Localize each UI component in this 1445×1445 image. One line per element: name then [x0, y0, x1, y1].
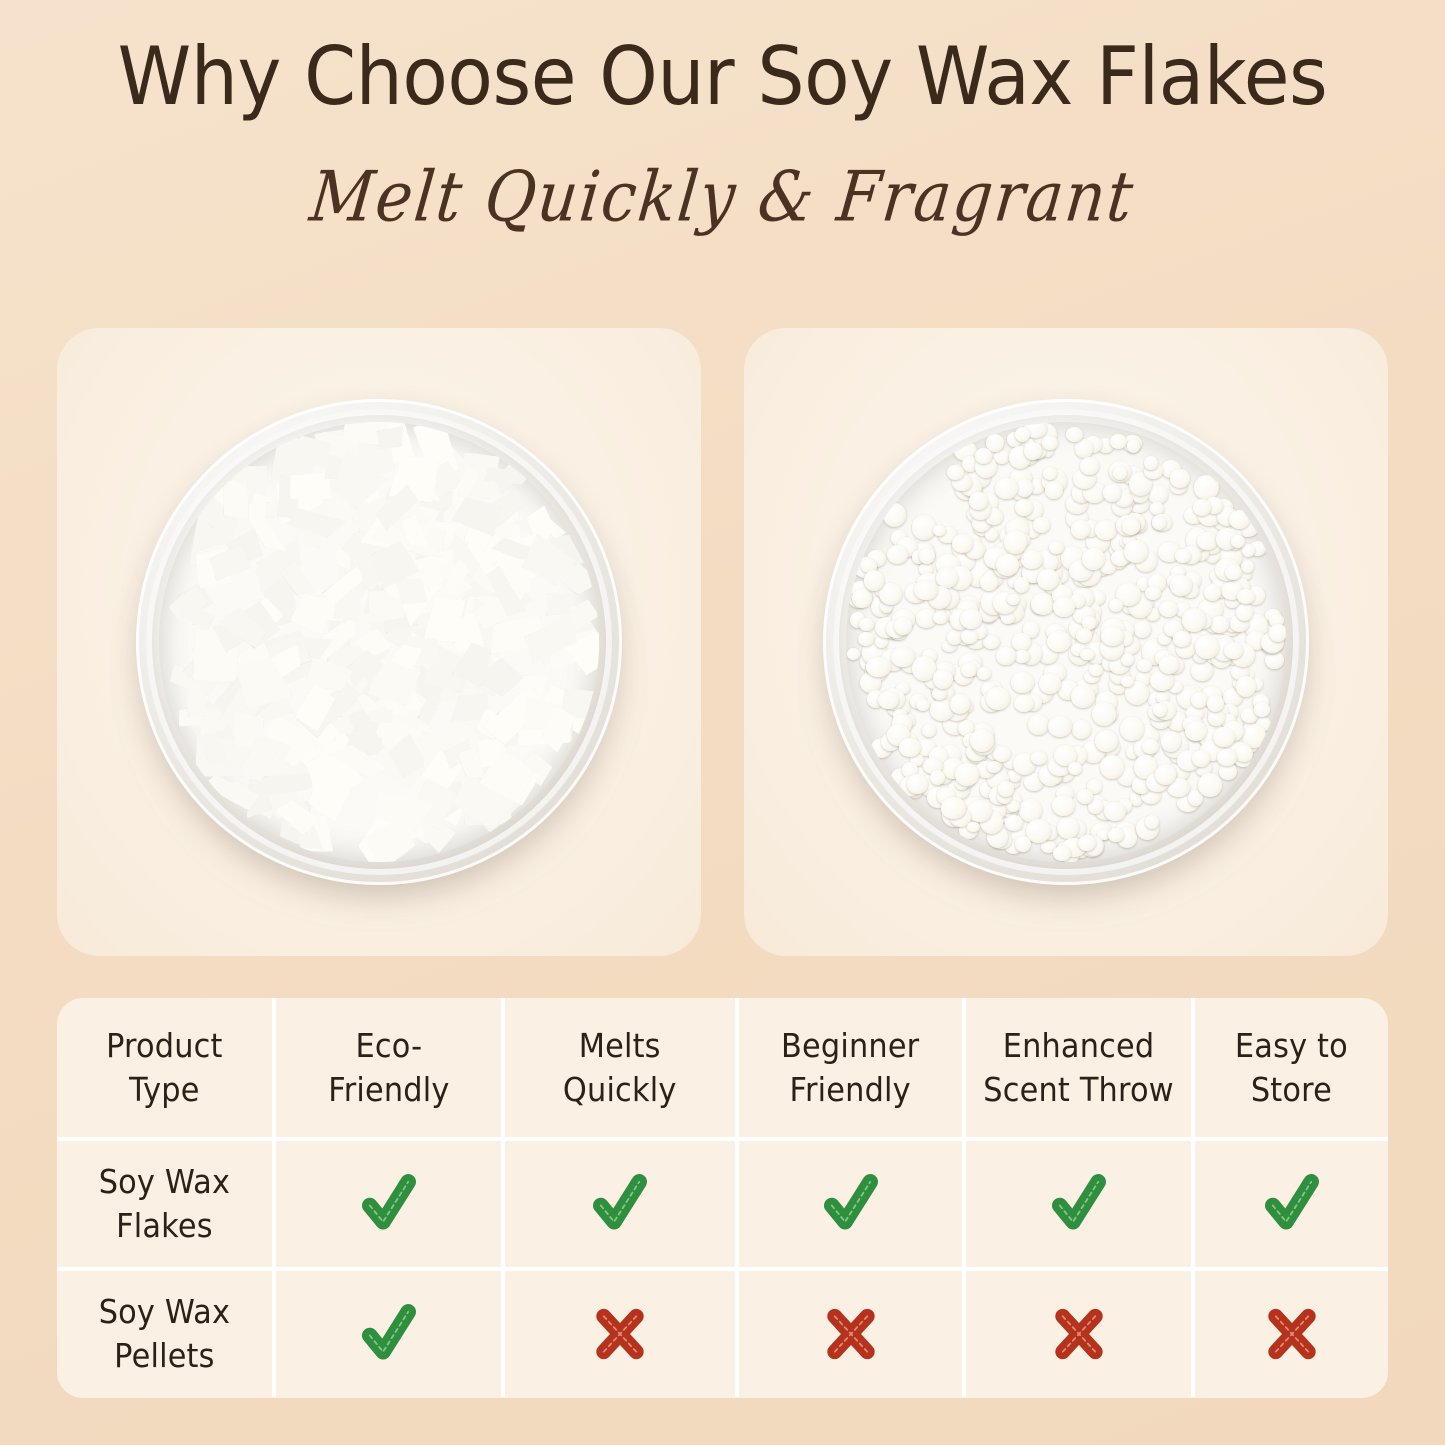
header-line-2: Friendly — [790, 1070, 911, 1109]
header-line-2: Store — [1251, 1070, 1332, 1109]
wax-pellet — [1104, 802, 1126, 821]
wax-pellet — [1052, 795, 1075, 816]
check-icon — [1255, 1167, 1329, 1241]
wax-pellet — [1015, 836, 1031, 852]
wax-pellet — [1047, 631, 1071, 652]
table-row: Soy Wax Pellets — [57, 1267, 1388, 1397]
header-line-2: Type — [129, 1070, 199, 1109]
wax-pellet — [1037, 569, 1059, 590]
wax-pellet — [933, 525, 946, 537]
header-cell-beginner-friendly: Beginner Friendly — [735, 998, 962, 1137]
check-icon — [814, 1167, 888, 1241]
wax-pellet — [1175, 549, 1191, 563]
row-label-text: Soy Wax Pellets — [99, 1290, 230, 1377]
row-label-line-2: Flakes — [116, 1206, 213, 1245]
wax-pellet — [1021, 550, 1043, 570]
wax-pellet — [1016, 479, 1033, 496]
header-cell-product-type: Product Type — [57, 998, 272, 1137]
wax-pellet — [933, 611, 948, 625]
cell-pellets-melts-quickly — [501, 1271, 735, 1397]
wax-pellet — [1192, 750, 1210, 767]
wax-pellet — [1095, 520, 1117, 540]
wax-pellet — [1089, 664, 1103, 676]
mark-slot — [814, 1297, 888, 1371]
cross-icon — [1042, 1297, 1116, 1371]
wax-pellet — [986, 687, 1010, 709]
cell-pellets-easy-to-store — [1191, 1271, 1388, 1397]
wax-pellet — [1124, 540, 1148, 563]
wax-pellet — [1191, 661, 1213, 681]
table-header-row: Product Type Eco- Friendly Melts Quickly… — [57, 998, 1388, 1137]
wax-pellet — [1121, 653, 1134, 666]
wax-pellet — [1014, 577, 1030, 593]
wax-pellet — [1053, 597, 1075, 617]
wax-pellet — [960, 609, 981, 629]
mark-slot — [583, 1297, 657, 1371]
wax-pellet — [1236, 604, 1253, 621]
wax-pellet — [1066, 427, 1083, 442]
header-text: Product Type — [106, 1024, 223, 1111]
wax-pellet — [947, 630, 962, 645]
mark-slot — [1042, 1167, 1116, 1241]
wax-pellet — [1071, 520, 1090, 539]
wax-pellet — [970, 729, 994, 752]
wax-pellet — [987, 761, 1001, 773]
header-line-2: Friendly — [328, 1070, 449, 1109]
mark-slot — [1255, 1167, 1329, 1241]
wax-pellet — [947, 465, 963, 480]
wax-pellet — [1204, 584, 1221, 600]
wax-pellet — [1236, 676, 1256, 697]
header-text: Melts Quickly — [563, 1024, 677, 1111]
header-line-1: Eco- — [355, 1026, 422, 1065]
header-line-1: Melts — [579, 1026, 661, 1065]
wax-pellet — [1191, 692, 1208, 708]
wax-pellet — [933, 669, 953, 689]
cell-pellets-beginner-friendly — [735, 1271, 962, 1397]
header-cell-melts-quickly: Melts Quickly — [501, 998, 735, 1137]
page-subtitle: Melt Quickly & Fragrant — [0, 156, 1445, 238]
wax-pellet — [1229, 510, 1250, 529]
wax-pellet — [1170, 469, 1190, 489]
wax-pellet — [1122, 518, 1140, 535]
wax-pellet — [1080, 457, 1098, 475]
wax-pellet — [864, 570, 884, 591]
flakes-bowl — [119, 382, 639, 902]
wax-pellet — [879, 583, 901, 605]
wax-pellet — [1057, 817, 1079, 839]
wax-pellet — [961, 629, 978, 644]
wax-pellet — [887, 545, 908, 564]
row-label-text: Soy Wax Flakes — [99, 1160, 230, 1247]
wax-pellet — [1045, 481, 1063, 499]
header-line-1: Beginner — [781, 1026, 919, 1065]
wax-pellet — [1049, 541, 1064, 554]
wax-pellet — [996, 647, 1016, 666]
wax-pellet — [1120, 717, 1144, 741]
wax-pellet — [1197, 532, 1218, 550]
product-photo-panels — [57, 328, 1388, 956]
wax-pellet — [1144, 456, 1158, 470]
check-icon — [352, 1297, 426, 1371]
pellets-bowl — [806, 382, 1326, 902]
wax-pellet — [1225, 565, 1242, 581]
wax-pellet — [1113, 466, 1127, 480]
wax-pellet — [1092, 702, 1117, 726]
mark-slot — [352, 1167, 426, 1241]
wax-pellet — [1103, 484, 1121, 502]
page-title: Why Choose Our Soy Wax Flakes — [51, 36, 1395, 118]
check-icon — [352, 1167, 426, 1241]
wax-pellet — [961, 663, 977, 678]
wax-pellet — [1068, 762, 1082, 775]
wax-pellet — [1028, 714, 1050, 736]
wax-pellet — [1031, 751, 1047, 765]
wax-pellet — [1109, 599, 1123, 612]
wax-pellet — [852, 589, 872, 608]
wax-pellet — [1080, 649, 1094, 661]
wax-pellet — [1137, 659, 1152, 672]
wax-pellet — [932, 687, 946, 700]
wax-pellet — [1155, 764, 1176, 785]
cell-pellets-eco-friendly — [272, 1271, 501, 1397]
wax-pellet — [894, 617, 912, 635]
wax-pellet — [1241, 560, 1254, 572]
wax-pellet — [1007, 594, 1020, 606]
wax-pellet — [936, 567, 958, 588]
header-text: Easy to Store — [1235, 1024, 1348, 1111]
wax-pellets-fill — [846, 422, 1286, 862]
wax-pellet — [1011, 672, 1034, 694]
wax-pellet — [866, 657, 890, 677]
wax-pellet — [1231, 535, 1245, 548]
wax-pellet — [1134, 621, 1151, 638]
wax-pellet — [858, 632, 874, 646]
wax-pellet — [907, 774, 928, 794]
infographic-page: Why Choose Our Soy Wax Flakes Melt Quick… — [0, 0, 1445, 1445]
mark-slot — [1255, 1297, 1329, 1371]
header-text: Eco- Friendly — [328, 1024, 449, 1111]
wax-pellet — [1242, 544, 1255, 557]
cross-icon — [1255, 1297, 1329, 1371]
wax-pellet — [878, 691, 899, 709]
table-row: Soy Wax Flakes — [57, 1137, 1388, 1267]
wax-pellet — [941, 797, 966, 819]
header-cell-enhanced-scent-throw: Enhanced Scent Throw — [962, 998, 1191, 1137]
header-line-1: Easy to — [1235, 1026, 1348, 1065]
wax-pellet — [859, 618, 874, 631]
wax-pellet — [1254, 702, 1270, 717]
cell-pellets-enhanced-scent-throw — [962, 1271, 1191, 1397]
header-line-2: Scent Throw — [983, 1070, 1173, 1109]
row-label-line-1: Soy Wax — [99, 1292, 230, 1331]
wax-pellet — [922, 724, 936, 737]
mark-slot — [352, 1297, 426, 1371]
cell-flakes-melts-quickly — [501, 1141, 735, 1267]
wax-pellet — [914, 580, 937, 600]
wax-pellet — [983, 635, 1001, 650]
wax-pellet — [1142, 739, 1159, 754]
cell-flakes-easy-to-store — [1191, 1141, 1388, 1267]
cell-flakes-enhanced-scent-throw — [962, 1141, 1191, 1267]
wax-pellet — [975, 448, 992, 464]
mark-slot — [814, 1167, 888, 1241]
wax-pellet — [847, 648, 861, 660]
wax-pellet — [1101, 626, 1124, 646]
wax-pellet — [1173, 631, 1191, 646]
wax-pellet — [1004, 530, 1027, 554]
header-text: Beginner Friendly — [781, 1024, 919, 1111]
header-cell-easy-to-store: Easy to Store — [1191, 998, 1388, 1137]
mark-slot — [583, 1167, 657, 1241]
comparison-table: Product Type Eco- Friendly Melts Quickly… — [57, 998, 1388, 1398]
wax-pellet — [1012, 633, 1030, 651]
mark-slot — [1042, 1297, 1116, 1371]
cell-flakes-beginner-friendly — [735, 1141, 962, 1267]
wax-pellet — [1195, 635, 1219, 659]
wax-pellet — [998, 781, 1015, 797]
wax-pellet — [967, 822, 980, 833]
wax-pellet — [1015, 499, 1034, 516]
row-label-line-1: Soy Wax — [99, 1162, 230, 1201]
wax-pellet — [1033, 517, 1050, 533]
wax-pellet — [1014, 650, 1030, 663]
check-icon — [1042, 1167, 1116, 1241]
wax-pellet — [980, 574, 997, 592]
wax-pellet — [1224, 642, 1243, 659]
wax-flakes-fill — [159, 422, 599, 862]
wax-pellet — [1170, 575, 1193, 595]
wax-pellet — [1208, 710, 1224, 726]
cross-icon — [583, 1297, 657, 1371]
soy-wax-pellets-photo — [744, 328, 1388, 956]
check-icon — [583, 1167, 657, 1241]
wax-pellet — [1014, 695, 1034, 712]
wax-pellet — [1145, 586, 1161, 600]
soy-wax-flakes-photo — [57, 328, 701, 956]
wax-pellet — [1159, 601, 1178, 618]
wax-pellet — [1217, 749, 1236, 766]
wax-pellet — [1042, 436, 1057, 451]
header-text: Enhanced Scent Throw — [983, 1024, 1173, 1111]
wax-pellet — [919, 548, 935, 564]
wax-pellet — [996, 554, 1020, 576]
wax-pellet — [1072, 720, 1091, 739]
cell-flakes-eco-friendly — [272, 1141, 501, 1267]
wax-pellet — [1077, 789, 1093, 804]
wax-pellet — [1048, 716, 1071, 737]
wax-pellet — [995, 478, 1017, 500]
header-line-1: Enhanced — [1003, 1026, 1155, 1065]
wax-pellet — [1269, 624, 1286, 642]
wax-pellet — [1198, 773, 1222, 798]
wax-pellet — [1152, 515, 1167, 530]
cross-icon — [814, 1297, 888, 1371]
wax-pellet — [1210, 616, 1229, 633]
row-label-soy-wax-flakes: Soy Wax Flakes — [57, 1141, 272, 1267]
wax-pellet — [1071, 685, 1095, 708]
row-label-soy-wax-pellets: Soy Wax Pellets — [57, 1271, 272, 1397]
header-line-1: Product — [106, 1026, 223, 1065]
wax-pellet — [1053, 846, 1070, 861]
header-cell-eco-friendly: Eco- Friendly — [272, 998, 501, 1137]
row-label-line-2: Pellets — [114, 1336, 214, 1375]
wax-pellet — [1213, 727, 1235, 748]
wax-pellet — [891, 647, 915, 668]
wax-pellet — [883, 503, 906, 527]
wax-pellet — [1015, 427, 1030, 443]
header-line-2: Quickly — [563, 1070, 677, 1109]
wax-pellet — [1005, 815, 1024, 831]
wax-pellet — [1110, 434, 1126, 449]
wax-pellet — [1075, 439, 1093, 458]
wax-pellet — [916, 699, 930, 711]
wax-pellet — [1127, 439, 1140, 453]
wax-pellet — [1235, 745, 1253, 762]
wax-pellet — [1078, 835, 1096, 851]
wax-pellet — [1100, 755, 1124, 779]
wax-pellet — [977, 667, 991, 680]
wax-pellet — [950, 694, 971, 714]
wax-pellet — [955, 763, 980, 786]
wax-pellet — [1145, 815, 1159, 829]
